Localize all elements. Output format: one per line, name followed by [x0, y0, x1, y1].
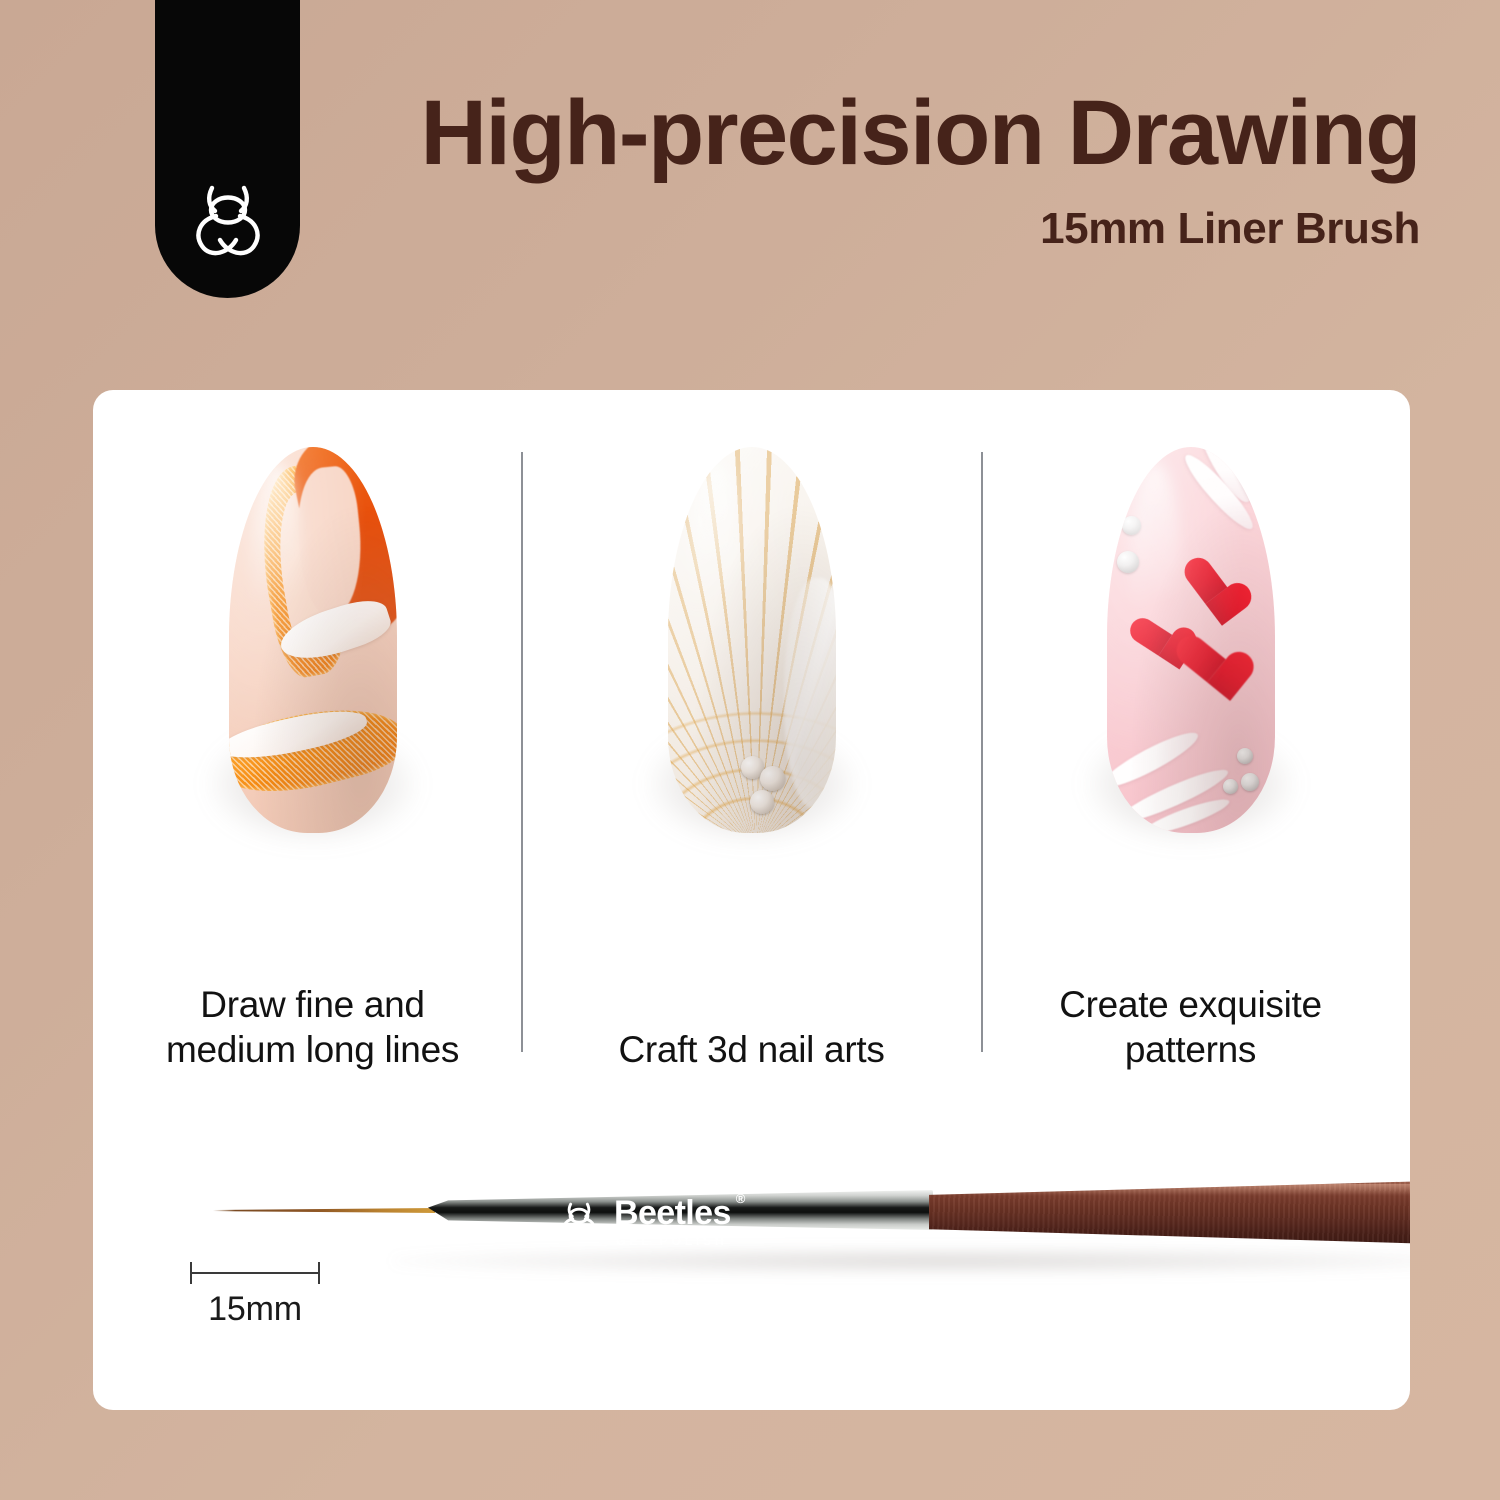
brush-showcase: Beetles® GEL POLISH — [93, 1080, 1410, 1410]
brand-name: Beetles® — [614, 1196, 731, 1230]
pearl-bead — [750, 790, 774, 814]
pearl-bead — [1122, 516, 1141, 535]
feature-column-3: Create exquisite patterns — [971, 390, 1410, 1080]
feature-caption-2: Craft 3d nail arts — [532, 1027, 971, 1072]
dimension-label: 15mm — [190, 1290, 320, 1329]
liner-brush: Beetles® GEL POLISH — [213, 1170, 1410, 1246]
pink-red-heart-pearl-nail — [1107, 447, 1275, 833]
dimension-cap-right — [318, 1262, 320, 1284]
red-heart — [1179, 557, 1239, 613]
pearl-bead — [1241, 773, 1259, 791]
brand-logo-tab — [155, 0, 300, 298]
column-divider-1 — [521, 452, 523, 1052]
feature-row: Draw fine and medium long lines — [93, 390, 1410, 1080]
red-heart — [1174, 633, 1236, 692]
nail-stage-3 — [971, 390, 1410, 890]
brand-name-text: Beetles — [614, 1194, 731, 1232]
brush-shadow — [393, 1248, 1410, 1274]
dimension-line — [190, 1262, 320, 1284]
feature-caption-1: Draw fine and medium long lines — [93, 982, 532, 1072]
dimension-cap-left — [190, 1262, 192, 1284]
feature-column-1: Draw fine and medium long lines — [93, 390, 532, 1080]
brush-bristles — [213, 1208, 435, 1213]
caption-line-1a: Draw fine and — [117, 982, 508, 1027]
pearl-bead — [1223, 779, 1238, 794]
handle-branding: Beetles® GEL POLISH — [557, 1196, 731, 1248]
caption-line-1b: medium long lines — [117, 1027, 508, 1072]
white-gold-shell-pearl-nail — [668, 447, 836, 833]
nail-stage-1 — [93, 390, 532, 890]
caption-line-3a: Create exquisite — [995, 982, 1386, 1027]
nude-orange-glitter-swirl-nail — [229, 447, 397, 833]
page-subtitle: 15mm Liner Brush — [320, 204, 1420, 254]
brand-text: Beetles® GEL POLISH — [614, 1196, 731, 1248]
beetle-logo-icon — [557, 1201, 601, 1243]
brush-handle — [929, 1176, 1410, 1246]
product-marketing-image: High-precision Drawing 15mm Liner Brush — [0, 0, 1500, 1500]
caption-line-3b: patterns — [995, 1027, 1386, 1072]
page-title: High-precision Drawing — [320, 86, 1420, 182]
pearl-bead — [760, 766, 785, 791]
registered-trademark-icon: ® — [736, 1192, 745, 1205]
nail-stage-2 — [532, 390, 971, 890]
headline-block: High-precision Drawing 15mm Liner Brush — [320, 86, 1420, 254]
dimension-annotation: 15mm — [190, 1262, 320, 1329]
brand-subtitle: GEL POLISH — [616, 1234, 731, 1248]
content-card: Draw fine and medium long lines — [93, 390, 1410, 1410]
pearl-bead — [1117, 551, 1139, 573]
column-divider-2 — [981, 452, 983, 1052]
pearl-bead — [1237, 748, 1253, 764]
feature-column-2: Craft 3d nail arts — [532, 390, 971, 1080]
caption-line-2a: Craft 3d nail arts — [556, 1027, 947, 1072]
feature-caption-3: Create exquisite patterns — [971, 982, 1410, 1072]
beetle-logo-icon — [186, 182, 270, 262]
